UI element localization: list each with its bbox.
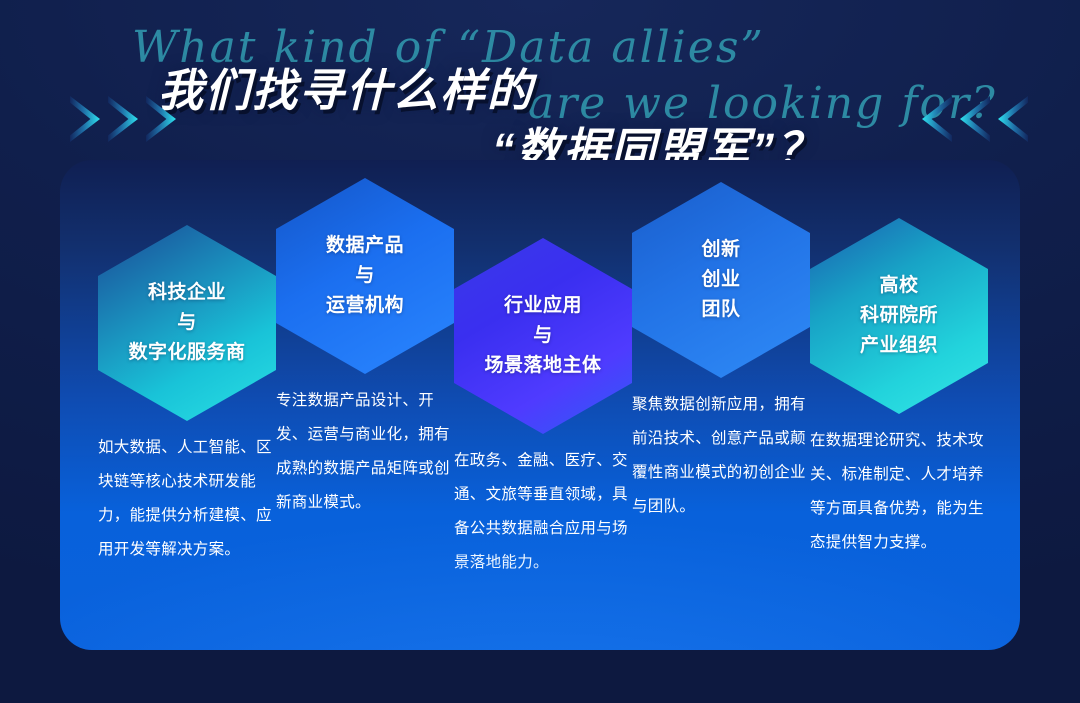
infographic-stage: What kind of “Data allies” are we lookin…: [0, 0, 1080, 703]
card-title: 科技企业 与 数字化服务商: [128, 278, 245, 368]
cards-panel: 科技企业 与 数字化服务商 如大数据、人工智能、区块链等核心技术研发能力，能提供…: [60, 160, 1020, 650]
chevron-left-icon: [960, 96, 990, 142]
chevron-left-triple-icon: [922, 96, 1028, 142]
card-description: 聚焦数据创新应用，拥有前沿技术、创意产品或颠覆性商业模式的初创企业与团队。: [632, 388, 810, 524]
hexagon-shape: 数据产品 与 运营机构: [276, 178, 454, 374]
card-description: 在数据理论研究、技术攻关、标准制定、人才培养等方面具备优势，能为生态提供智力支撑…: [810, 424, 988, 560]
chevron-right-icon: [146, 96, 176, 142]
card-description: 如大数据、人工智能、区块链等核心技术研发能力，能提供分析建模、应用开发等解决方案…: [98, 431, 276, 567]
card-tech-enterprises[interactable]: 科技企业 与 数字化服务商 如大数据、人工智能、区块链等核心技术研发能力，能提供…: [98, 225, 276, 567]
chevron-right-triple-icon: [70, 96, 176, 142]
card-data-products[interactable]: 数据产品 与 运营机构 专注数据产品设计、开发、运营与商业化，拥有成熟的数据产品…: [276, 178, 454, 520]
hexagon-shape: 高校 科研院所 产业组织: [810, 218, 988, 414]
header: What kind of “Data allies” are we lookin…: [0, 0, 1080, 172]
card-title: 高校 科研院所 产业组织: [860, 271, 938, 361]
chevron-left-icon: [922, 96, 952, 142]
chevron-right-icon: [108, 96, 138, 142]
chevron-right-icon: [70, 96, 100, 142]
card-description: 专注数据产品设计、开发、运营与商业化，拥有成熟的数据产品矩阵或创新商业模式。: [276, 384, 454, 520]
card-title: 行业应用 与 场景落地主体: [484, 291, 601, 381]
card-universities-research[interactable]: 高校 科研院所 产业组织 在数据理论研究、技术攻关、标准制定、人才培养等方面具备…: [810, 218, 988, 560]
card-industry-applications[interactable]: 行业应用 与 场景落地主体 在政务、金融、医疗、交通、文旅等垂直领域，具备公共数…: [454, 238, 632, 580]
card-description: 在政务、金融、医疗、交通、文旅等垂直领域，具备公共数据融合应用与场景落地能力。: [454, 444, 632, 580]
card-innovation-teams[interactable]: 创新 创业 团队 聚焦数据创新应用，拥有前沿技术、创意产品或颠覆性商业模式的初创…: [632, 182, 810, 524]
page-title-line-1: 我们找寻什么样的: [158, 54, 534, 119]
chevron-left-icon: [998, 96, 1028, 142]
hexagon-shape: 科技企业 与 数字化服务商: [98, 225, 276, 421]
hexagon-shape: 行业应用 与 场景落地主体: [454, 238, 632, 434]
hexagon-shape: 创新 创业 团队: [632, 182, 810, 378]
card-title: 创新 创业 团队: [701, 235, 740, 325]
card-title: 数据产品 与 运营机构: [326, 231, 404, 321]
